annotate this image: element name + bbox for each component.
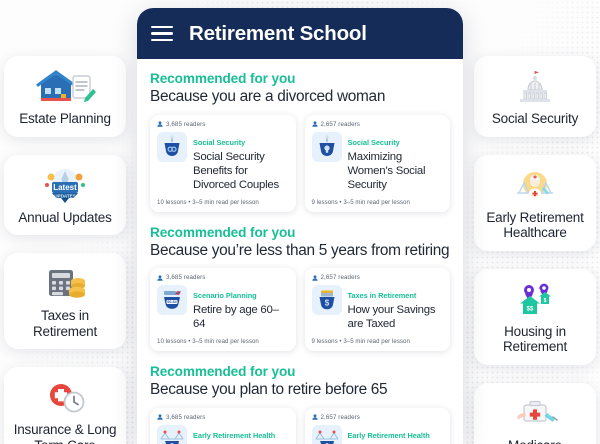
- latest-updates-badge-icon: Latest UPDATES: [33, 164, 97, 206]
- course-card-text: Taxes in Retirement How your Savings are…: [348, 285, 444, 332]
- person-icon: [312, 414, 318, 420]
- course-card-text: Social Security Social Security Benefits…: [193, 132, 289, 193]
- course-card-row: 3,685 readers: [150, 408, 450, 444]
- phone-mockup: Retirement School Recommended for you Be…: [137, 8, 463, 444]
- person-icon: [312, 275, 318, 281]
- section-eyebrow: Recommended for you: [150, 71, 450, 86]
- category-tile-label: Taxes in Retirement: [10, 308, 120, 339]
- screenshot-stage: Estate Planning Latest UPDATES: [0, 0, 600, 444]
- recommendation-section: Recommended for you Because you are a di…: [150, 71, 450, 212]
- course-card-body: Early Retirement Health Early Retirement: [157, 425, 289, 444]
- category-tile-annual-updates[interactable]: Latest UPDATES Annual Updates: [4, 155, 126, 236]
- svg-text:UPDATES: UPDATES: [54, 193, 76, 198]
- early-retirement-health-icon: [157, 425, 187, 444]
- person-icon: [157, 121, 163, 127]
- first-aid-kit-icon: [503, 392, 567, 434]
- category-tile-housing-in-retirement[interactable]: $ $$ Housing in Retirement: [474, 269, 596, 365]
- svg-text:$$: $$: [527, 306, 534, 312]
- readers-label: 3,685 readers: [166, 274, 205, 281]
- course-card[interactable]: 2,657 readers: [305, 408, 451, 444]
- course-card[interactable]: 2,657 readers: [305, 115, 451, 212]
- course-card[interactable]: 3,685 readers: [150, 115, 296, 212]
- readers-count: 3,685 readers: [157, 121, 289, 128]
- capitol-building-icon: [503, 65, 567, 107]
- hamburger-menu-icon[interactable]: [151, 26, 173, 42]
- course-card-text: Scenario Planning Retire by age 60–64: [193, 285, 289, 332]
- recommendation-section: Recommended for you Because you’re less …: [150, 225, 450, 352]
- right-category-column: Social Security: [470, 0, 598, 444]
- category-tile-social-security[interactable]: Social Security: [474, 56, 596, 137]
- person-icon: [157, 275, 163, 281]
- course-card-row: 3,685 readers: [150, 115, 450, 212]
- course-card-text: Early Retirement Health Early Retirement: [193, 425, 275, 444]
- readers-label: 2,657 readers: [321, 274, 360, 281]
- retire-age-shield-icon: 60-64: [157, 285, 187, 315]
- section-eyebrow: Recommended for you: [150, 364, 450, 379]
- feed-scroll-area[interactable]: Recommended for you Because you are a di…: [137, 59, 463, 444]
- category-tile-label: Insurance & Long Term Care: [10, 422, 120, 444]
- course-card[interactable]: 2,657 readers $: [305, 268, 451, 351]
- svg-text:$: $: [544, 298, 547, 304]
- course-title: How your Savings are Taxed: [348, 304, 444, 332]
- social-security-shield-icon: [157, 132, 187, 162]
- course-card-text: Social Security Maximizing Women’s Socia…: [348, 132, 444, 193]
- section-eyebrow: Recommended for you: [150, 225, 450, 240]
- house-document-icon: [33, 65, 97, 107]
- app-header: Retirement School: [137, 8, 463, 59]
- course-card-body: 60-64 Scenario Planning Retire by age 60…: [157, 285, 289, 332]
- course-meta: 9 lessons • 3–5 min read per lesson: [312, 338, 444, 345]
- course-card-row: 3,685 readers: [150, 268, 450, 351]
- course-title: Retire by age 60–64: [193, 304, 289, 332]
- category-tile-early-retirement-healthcare[interactable]: Early Retirement Healthcare: [474, 155, 596, 251]
- course-card-body: Social Security Social Security Benefits…: [157, 132, 289, 193]
- dollar-shield-icon: $: [312, 285, 342, 315]
- course-category: Early Retirement Health: [348, 431, 430, 440]
- category-tile-label: Early Retirement Healthcare: [480, 210, 590, 241]
- category-tile-estate-planning[interactable]: Estate Planning: [4, 56, 126, 137]
- course-category: Taxes in Retirement: [348, 291, 417, 300]
- category-tile-label: Housing in Retirement: [480, 324, 590, 355]
- course-card[interactable]: 3,685 readers: [150, 408, 296, 444]
- category-tile-label: Social Security: [492, 111, 578, 127]
- section-heading: Because you plan to retire before 65: [150, 381, 450, 400]
- course-category: Social Security: [348, 138, 400, 147]
- readers-label: 3,685 readers: [166, 414, 205, 421]
- svg-text:$: $: [324, 299, 329, 308]
- nurse-bridge-icon: [503, 164, 567, 206]
- course-title: Social Security Benefits for Divorced Co…: [193, 151, 289, 193]
- category-tile-label: Annual Updates: [18, 210, 111, 226]
- section-heading: Because you are a divorced woman: [150, 88, 450, 107]
- category-tile-label: Estate Planning: [19, 111, 111, 127]
- social-security-shield-icon: [312, 132, 342, 162]
- category-tile-insurance-long-term-care[interactable]: Insurance & Long Term Care: [4, 367, 126, 444]
- course-meta: 10 lessons • 3–5 min read per lesson: [157, 199, 289, 206]
- course-category: Early Retirement Health: [193, 431, 275, 440]
- calculator-coins-icon: [33, 262, 97, 304]
- house-map-pin-icon: $ $$: [503, 278, 567, 320]
- course-category: Scenario Planning: [193, 291, 257, 300]
- course-card[interactable]: 3,685 readers: [150, 268, 296, 351]
- svg-text:60-64: 60-64: [167, 300, 176, 304]
- left-category-column: Estate Planning Latest UPDATES: [2, 0, 130, 444]
- app-title: Retirement School: [189, 22, 367, 46]
- category-tile-label: Medicare: [508, 438, 562, 444]
- course-category: Social Security: [193, 138, 245, 147]
- readers-label: 2,657 readers: [321, 121, 360, 128]
- course-card-text: Early Retirement Health For Women: [348, 425, 430, 444]
- section-heading: Because you’re less than 5 years from re…: [150, 242, 450, 261]
- person-icon: [312, 121, 318, 127]
- readers-count: 3,685 readers: [157, 274, 289, 281]
- svg-text:Latest: Latest: [53, 183, 77, 192]
- course-meta: 10 lessons • 3–5 min read per lesson: [157, 338, 289, 345]
- course-card-body: $ Taxes in Retirement How your Savings a…: [312, 285, 444, 332]
- course-card-body: Early Retirement Health For Women: [312, 425, 444, 444]
- readers-count: 3,685 readers: [157, 414, 289, 421]
- course-meta: 9 lessons • 3–5 min read per lesson: [312, 199, 444, 206]
- recommendation-section: Recommended for you Because you plan to …: [150, 364, 450, 444]
- person-icon: [157, 414, 163, 420]
- early-retirement-women-icon: [312, 425, 342, 444]
- readers-count: 2,657 readers: [312, 414, 444, 421]
- category-tile-medicare[interactable]: Medicare: [474, 383, 596, 444]
- readers-label: 3,685 readers: [166, 121, 205, 128]
- readers-count: 2,657 readers: [312, 121, 444, 128]
- course-card-body: Social Security Maximizing Women’s Socia…: [312, 132, 444, 193]
- readers-count: 2,657 readers: [312, 274, 444, 281]
- readers-label: 2,657 readers: [321, 414, 360, 421]
- course-title: Maximizing Women’s Social Security: [348, 151, 444, 193]
- category-tile-taxes-in-retirement[interactable]: Taxes in Retirement: [4, 253, 126, 349]
- medical-cross-clock-icon: [33, 376, 97, 418]
